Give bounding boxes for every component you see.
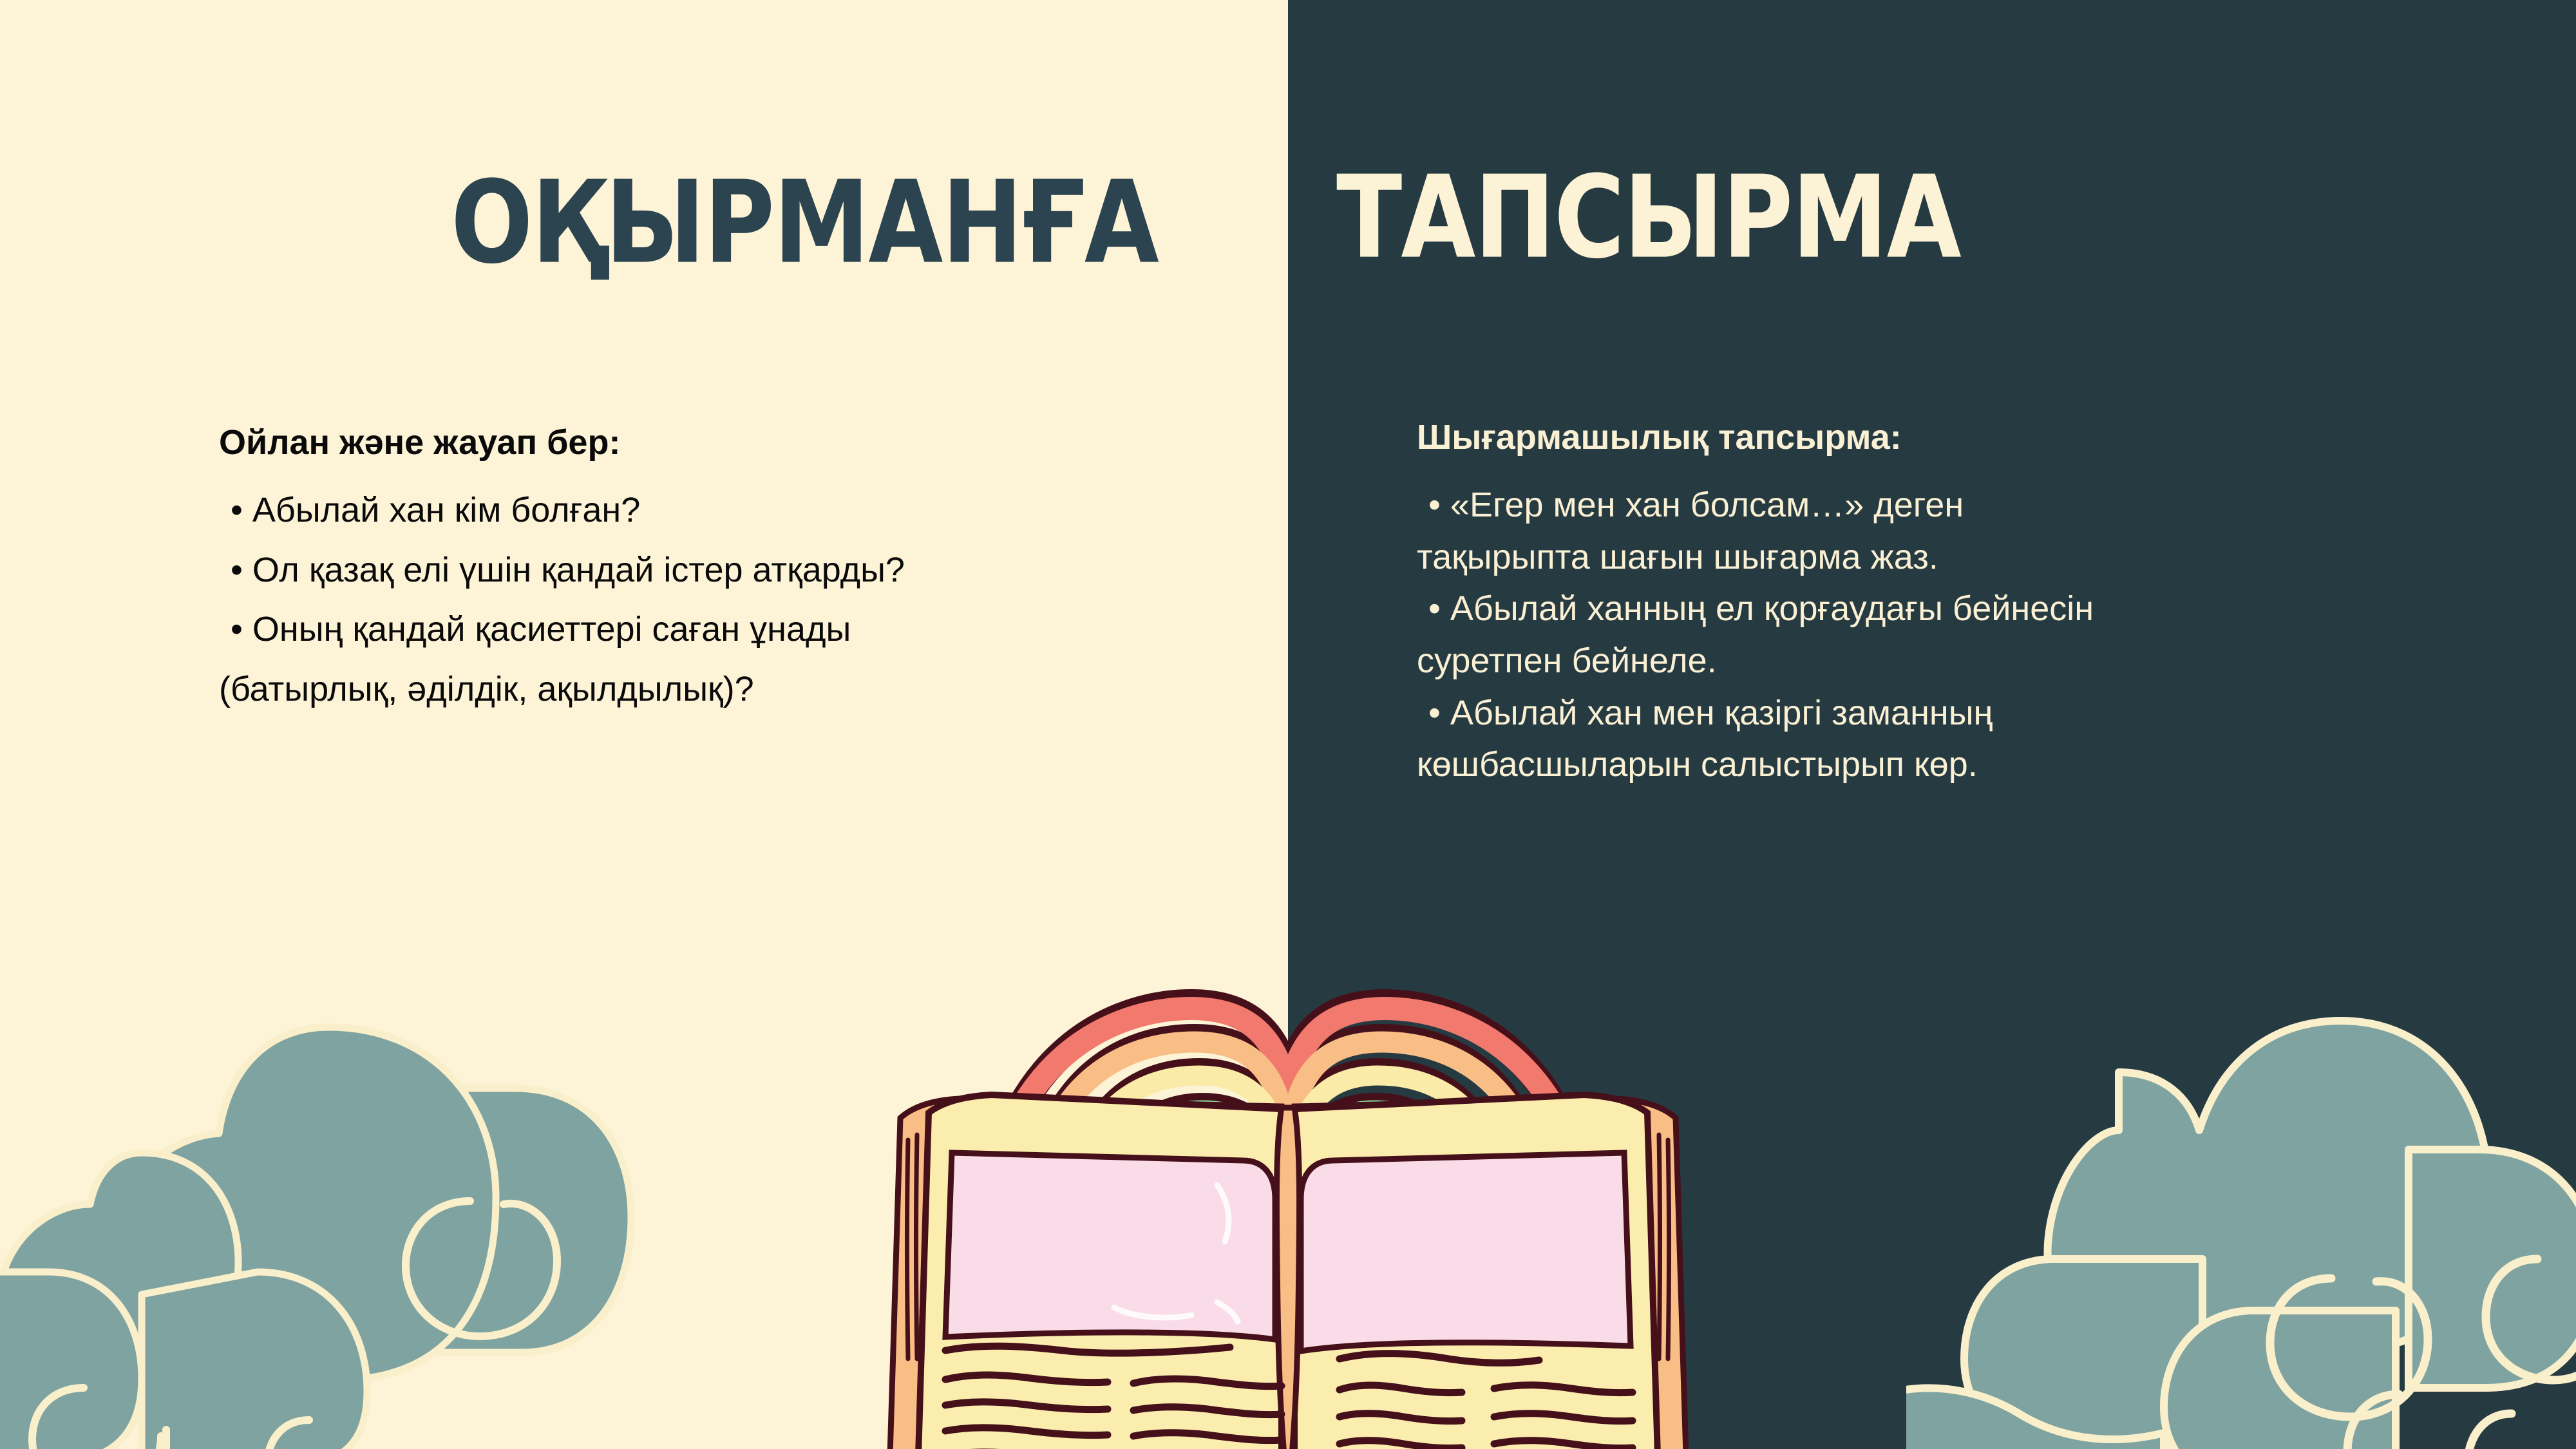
cloud-icon <box>0 1018 676 1449</box>
left-list-item-continuation: (батырлық, әділдік, ақылдылық)? <box>219 665 1224 714</box>
right-list-item: • Абылай хан мен қазіргі заманның <box>1417 688 2473 738</box>
left-list-item: • Оның қандай қасиеттері саған ұнады <box>219 605 1224 654</box>
left-text-block: Ойлан және жауап бер: • Абылай хан кім б… <box>219 425 1224 724</box>
page-title-right: ТАПСЫРМА <box>1336 161 1960 275</box>
left-list-item: • Абылай хан кім болған? <box>219 486 1224 535</box>
right-list-item: • «Егер мен хан болсам…» деген <box>1417 480 2473 530</box>
page-title-left: ОҚЫРМАНҒА <box>451 166 1158 280</box>
right-heading: Шығармашылық тапсырма: <box>1417 420 2473 455</box>
right-list-item-continuation: көшбасшыларын салыстырып көр. <box>1417 740 2473 790</box>
book-spine <box>1276 1108 1299 1449</box>
slide-canvas: ОҚЫРМАНҒА ТАПСЫРМА Ойлан және жауап бер:… <box>0 0 2576 1449</box>
right-list-item-continuation: тақырыпта шағын шығарма жаз. <box>1417 533 2473 582</box>
open-book-icon <box>831 947 1745 1449</box>
cloud-icon <box>1906 1001 2576 1449</box>
right-list-item-continuation: суретпен бейнеле. <box>1417 636 2473 686</box>
right-text-block: Шығармашылық тапсырма: • «Егер мен хан б… <box>1417 420 2473 792</box>
left-heading: Ойлан және жауап бер: <box>219 425 1224 460</box>
left-list-item: • Ол қазақ елі үшін қандай істер атқарды… <box>219 545 1224 595</box>
right-list-item: • Абылай ханның ел қорғаудағы бейнесін <box>1417 584 2473 634</box>
